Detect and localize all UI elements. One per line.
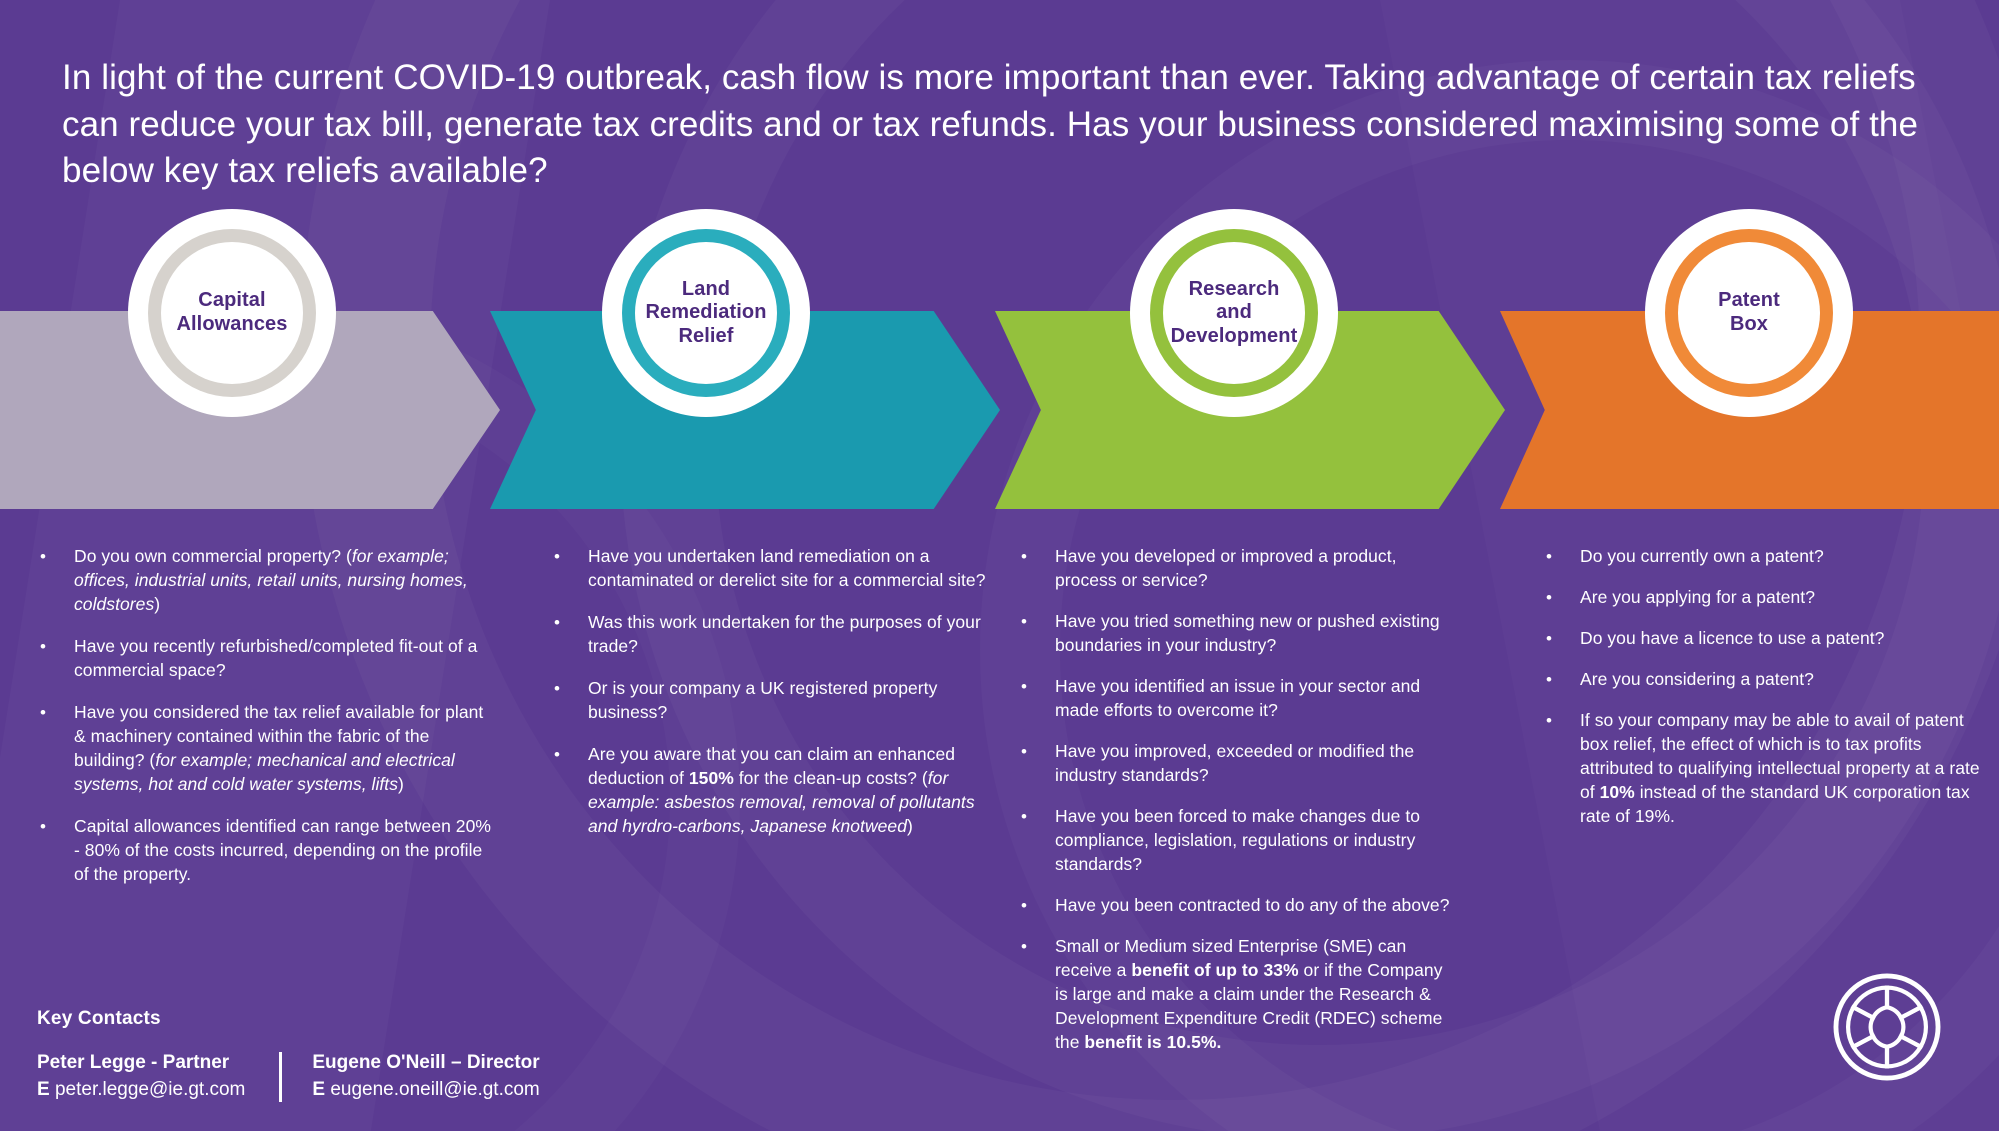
bullet-dot-icon: • — [1015, 610, 1055, 658]
bullet-item: •If so your company may be able to avail… — [1540, 709, 1990, 829]
contact-name-1: Peter Legge - Partner — [37, 1050, 245, 1077]
contact-person-1: Peter Legge - Partner E peter.legge@ie.g… — [37, 1050, 245, 1104]
bullet-dot-icon: • — [1015, 675, 1055, 723]
bullet-column-research-and-development: •Have you developed or improved a produc… — [1015, 545, 1455, 1071]
bullet-item: •Have you been contracted to do any of t… — [1015, 894, 1455, 918]
bullet-item: •Capital allowances identified can range… — [34, 815, 494, 887]
bullet-text: Have you considered the tax relief avail… — [74, 701, 494, 797]
bullet-item: •Small or Medium sized Enterprise (SME) … — [1015, 935, 1455, 1055]
bullet-text: Do you own commercial property? (for exa… — [74, 545, 494, 617]
contact-email-1[interactable]: E peter.legge@ie.gt.com — [37, 1077, 245, 1104]
step-circle-research-and-development: ResearchandDevelopment — [1130, 209, 1338, 417]
grant-thornton-swirl-logo — [1829, 969, 1945, 1085]
bullet-text: Are you applying for a patent? — [1580, 586, 1990, 610]
bullet-dot-icon: • — [1015, 805, 1055, 877]
bullet-text: Have you tried something new or pushed e… — [1055, 610, 1455, 658]
step-label-patent-box: PatentBox — [1712, 289, 1786, 336]
bullet-text: Are you aware that you can claim an enha… — [588, 743, 988, 839]
bullet-text: Have you developed or improved a product… — [1055, 545, 1455, 593]
bullet-text: Was this work undertaken for the purpose… — [588, 611, 988, 659]
bullet-text: Have you identified an issue in your sec… — [1055, 675, 1455, 723]
email-value-1: peter.legge@ie.gt.com — [55, 1079, 245, 1100]
bullet-dot-icon: • — [1015, 740, 1055, 788]
key-contacts: Key Contacts Peter Legge - Partner E pet… — [37, 1008, 540, 1104]
bullet-dot-icon: • — [1015, 545, 1055, 593]
bullet-item: •Are you aware that you can claim an enh… — [548, 743, 988, 839]
step-circle-patent-box: PatentBox — [1645, 209, 1853, 417]
bullet-dot-icon: • — [1540, 586, 1580, 610]
step-label-land-remediation-relief: LandRemediationRelief — [639, 278, 772, 349]
bullet-columns: •Do you own commercial property? (for ex… — [0, 545, 1999, 1015]
bullet-text: Small or Medium sized Enterprise (SME) c… — [1055, 935, 1455, 1055]
bullet-text: Have you been contracted to do any of th… — [1055, 894, 1455, 918]
bullet-dot-icon: • — [1540, 545, 1580, 569]
bullet-dot-icon: • — [34, 701, 74, 797]
slide-canvas: In light of the current COVID-19 outbrea… — [0, 0, 1999, 1131]
bullet-item: •Was this work undertaken for the purpos… — [548, 611, 988, 659]
bullet-dot-icon: • — [548, 611, 588, 659]
contact-name-2: Eugene O'Neill – Director — [312, 1050, 539, 1077]
bullet-dot-icon: • — [34, 635, 74, 683]
bullet-item: •Have you considered the tax relief avai… — [34, 701, 494, 797]
bullet-item: •Are you applying for a patent? — [1540, 586, 1990, 610]
bullet-column-land-remediation-relief: •Have you undertaken land remediation on… — [548, 545, 988, 857]
bullet-item: •Have you undertaken land remediation on… — [548, 545, 988, 593]
bullet-item: •Do you own commercial property? (for ex… — [34, 545, 494, 617]
bullet-item: •Have you tried something new or pushed … — [1015, 610, 1455, 658]
bullet-text: Are you considering a patent? — [1580, 668, 1990, 692]
contact-person-2: Eugene O'Neill – Director E eugene.oneil… — [312, 1050, 539, 1104]
bullet-text: Capital allowances identified can range … — [74, 815, 494, 887]
bullet-dot-icon: • — [1540, 668, 1580, 692]
bullet-text: Do you have a licence to use a patent? — [1580, 627, 1990, 651]
bullet-dot-icon: • — [34, 815, 74, 887]
bullet-text: Do you currently own a patent? — [1580, 545, 1990, 569]
bullet-dot-icon: • — [1540, 627, 1580, 651]
bullet-item: •Are you considering a patent? — [1540, 668, 1990, 692]
headline-text: In light of the current COVID-19 outbrea… — [62, 55, 1942, 195]
bullet-item: •Have you identified an issue in your se… — [1015, 675, 1455, 723]
bullet-dot-icon: • — [548, 545, 588, 593]
bullet-text: Have you improved, exceeded or modified … — [1055, 740, 1455, 788]
bullet-item: •Or is your company a UK registered prop… — [548, 677, 988, 725]
bullet-text: Or is your company a UK registered prope… — [588, 677, 988, 725]
bullet-dot-icon: • — [548, 677, 588, 725]
email-label-2: E — [312, 1079, 325, 1100]
contacts-divider — [279, 1052, 282, 1102]
bullet-text: Have you been forced to make changes due… — [1055, 805, 1455, 877]
email-label-1: E — [37, 1079, 50, 1100]
bullet-item: •Do you have a licence to use a patent? — [1540, 627, 1990, 651]
key-contacts-title: Key Contacts — [37, 1008, 540, 1030]
step-circle-land-remediation-relief: LandRemediationRelief — [602, 209, 810, 417]
bullet-dot-icon: • — [548, 743, 588, 839]
contact-email-2[interactable]: E eugene.oneill@ie.gt.com — [312, 1077, 539, 1104]
bullet-item: •Have you recently refurbished/completed… — [34, 635, 494, 683]
bullet-item: •Have you been forced to make changes du… — [1015, 805, 1455, 877]
bullet-item: •Do you currently own a patent? — [1540, 545, 1990, 569]
bullet-dot-icon: • — [34, 545, 74, 617]
bullet-item: •Have you developed or improved a produc… — [1015, 545, 1455, 593]
key-contacts-row: Peter Legge - Partner E peter.legge@ie.g… — [37, 1050, 540, 1104]
step-label-capital-allowances: CapitalAllowances — [170, 289, 293, 336]
step-circle-capital-allowances: CapitalAllowances — [128, 209, 336, 417]
bullet-text: Have you recently refurbished/completed … — [74, 635, 494, 683]
bullet-column-capital-allowances: •Do you own commercial property? (for ex… — [34, 545, 494, 905]
bullet-text: Have you undertaken land remediation on … — [588, 545, 988, 593]
bullet-text: If so your company may be able to avail … — [1580, 709, 1990, 829]
bullet-dot-icon: • — [1540, 709, 1580, 829]
bullet-dot-icon: • — [1015, 894, 1055, 918]
email-value-2: eugene.oneill@ie.gt.com — [330, 1079, 539, 1100]
bullet-item: •Have you improved, exceeded or modified… — [1015, 740, 1455, 788]
bullet-dot-icon: • — [1015, 935, 1055, 1055]
step-label-research-and-development: ResearchandDevelopment — [1165, 278, 1304, 349]
bullet-column-patent-box: •Do you currently own a patent?•Are you … — [1540, 545, 1990, 846]
